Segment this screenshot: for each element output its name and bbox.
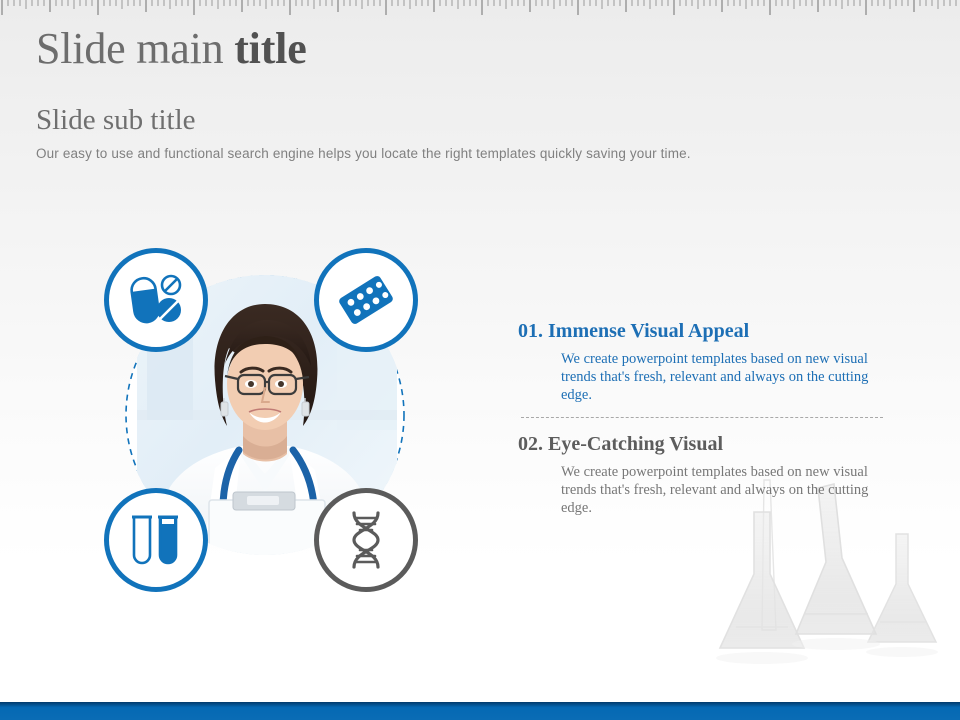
icon-circle-pills[interactable] <box>104 248 208 352</box>
page-title-bold: title <box>234 24 306 73</box>
feature-block-01-title: Immense Visual Appeal <box>548 320 749 342</box>
feature-block-02: 02.Eye-Catching Visual We create powerpo… <box>518 431 886 517</box>
page-title: Slide main title <box>36 22 916 76</box>
icon-circle-dna[interactable] <box>314 488 418 592</box>
feature-block-01-number: 01. <box>518 320 543 342</box>
dna-icon <box>342 510 390 570</box>
slide-canvas: Slide main title Slide sub title Our eas… <box>0 0 960 720</box>
test-tubes-icon <box>128 511 184 569</box>
feature-block-01-body: We create powerpoint templates based on … <box>561 350 881 404</box>
block-divider <box>521 417 883 418</box>
footer-bar <box>0 702 960 720</box>
feature-block-02-number: 02. <box>518 433 543 455</box>
feature-block-02-title: Eye-Catching Visual <box>548 433 723 455</box>
blister-pack-icon <box>336 272 396 328</box>
icon-cluster <box>90 240 440 590</box>
ruler-ticks-icon <box>0 0 960 16</box>
icon-circle-blister-pack[interactable] <box>314 248 418 352</box>
icon-circle-test-tubes[interactable] <box>104 488 208 592</box>
slide-header: Slide main title Slide sub title Our eas… <box>36 22 916 164</box>
feature-blocks: 01.Immense Visual Appeal We create power… <box>518 318 886 517</box>
pills-icon <box>126 272 186 328</box>
page-description: Our easy to use and functional search en… <box>36 144 916 164</box>
page-title-regular: Slide main <box>36 24 234 73</box>
feature-block-02-body: We create powerpoint templates based on … <box>561 463 881 517</box>
feature-block-01: 01.Immense Visual Appeal We create power… <box>518 318 886 404</box>
feature-block-01-heading: 01.Immense Visual Appeal <box>518 318 886 344</box>
ruler-decoration <box>0 0 960 16</box>
feature-block-02-heading: 02.Eye-Catching Visual <box>518 431 886 457</box>
page-subtitle: Slide sub title <box>36 102 916 138</box>
